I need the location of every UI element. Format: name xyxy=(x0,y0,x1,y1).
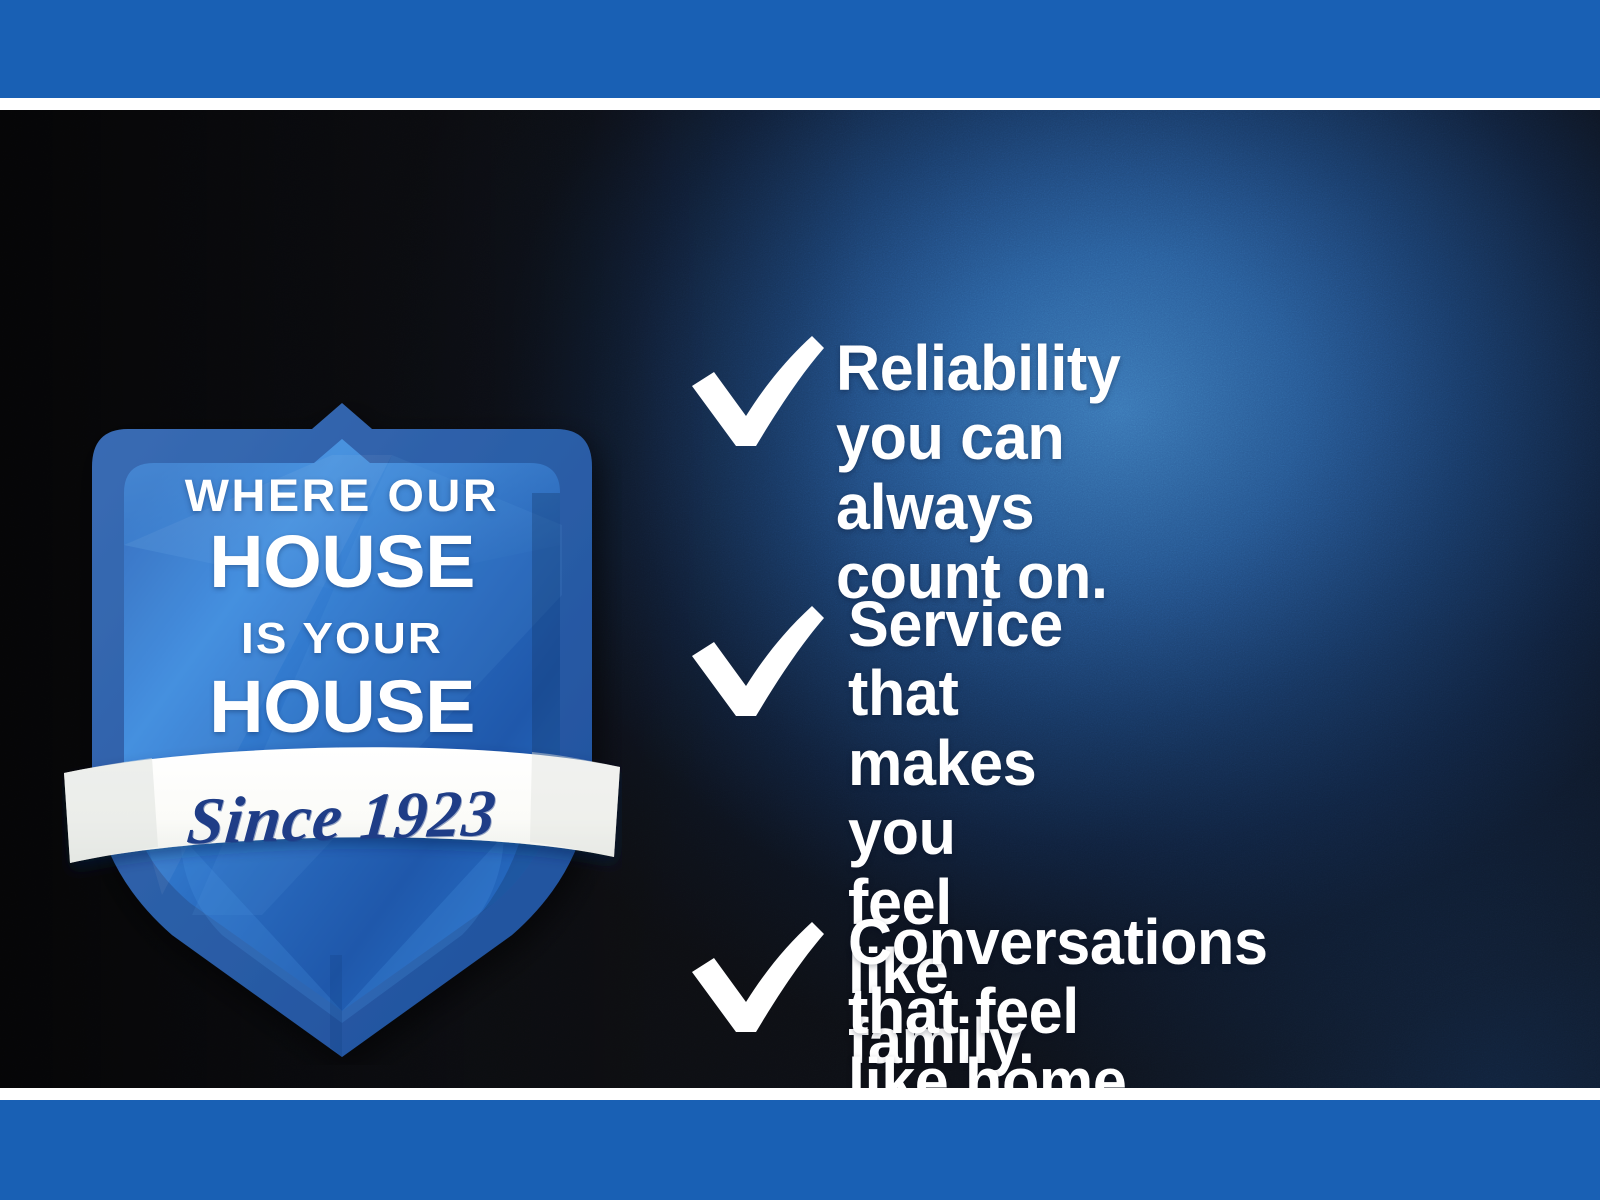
checkmark-icon xyxy=(684,600,824,718)
checkmark-icon xyxy=(684,916,824,1034)
bottom-brand-bar xyxy=(0,1100,1600,1200)
benefit-text: Reliability you can always count on. xyxy=(836,334,1121,612)
shield-point-crease xyxy=(330,955,342,1057)
checkmark-icon xyxy=(684,330,824,448)
benefits-list: Reliability you can always count on. Ser… xyxy=(676,220,1536,1088)
poster-canvas: WHERE OUR HOUSE IS YOUR HOUSE Since 1923… xyxy=(0,0,1600,1200)
main-panel: WHERE OUR HOUSE IS YOUR HOUSE Since 1923… xyxy=(0,110,1600,1088)
ribbon-fold-right xyxy=(530,752,620,857)
shield-badge-graphic xyxy=(62,395,622,1065)
shield-badge: WHERE OUR HOUSE IS YOUR HOUSE Since 1923 xyxy=(62,395,622,1065)
top-brand-bar xyxy=(0,0,1600,98)
ribbon-fold-left xyxy=(64,758,158,863)
benefit-text: Conversations that feel like home. xyxy=(848,908,1268,1088)
